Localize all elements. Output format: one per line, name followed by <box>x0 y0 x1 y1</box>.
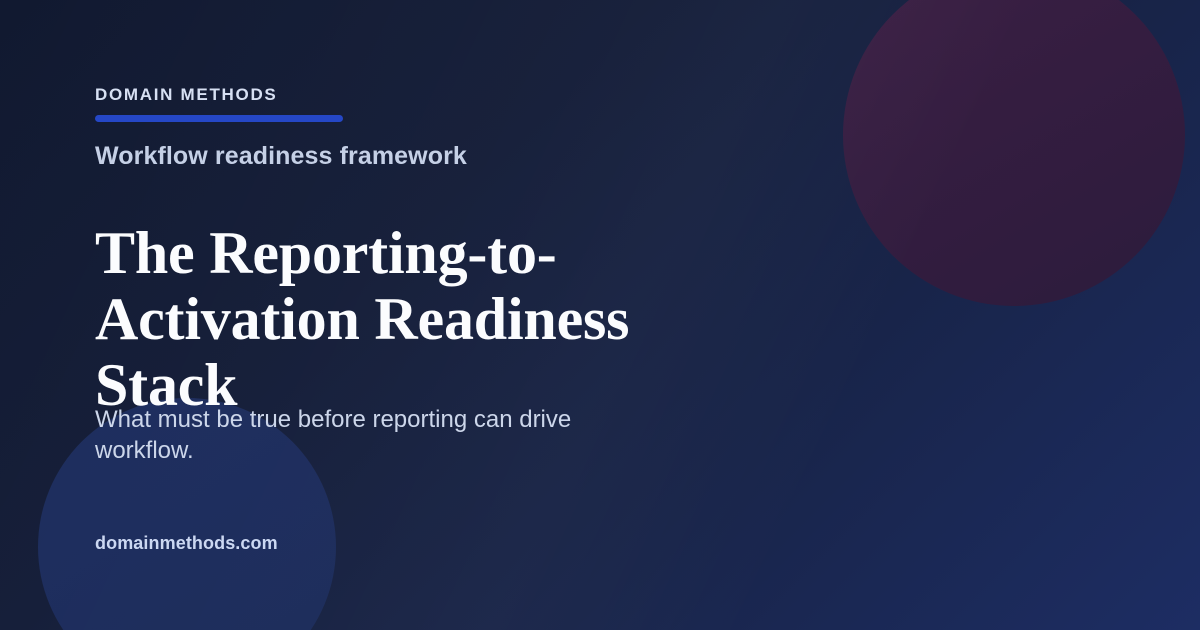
card-content: DOMAIN METHODS Workflow readiness framew… <box>95 0 795 630</box>
accent-bar <box>95 115 343 122</box>
page-title: The Reporting-to-Activation Readiness St… <box>95 220 755 418</box>
social-share-card: DOMAIN METHODS Workflow readiness framew… <box>0 0 1200 630</box>
card-kicker: Workflow readiness framework <box>95 141 467 171</box>
brand-eyebrow: DOMAIN METHODS <box>95 86 277 103</box>
site-url: domainmethods.com <box>95 533 278 554</box>
card-subhead: What must be true before reporting can d… <box>95 404 670 466</box>
purple-circle-decoration <box>843 0 1185 306</box>
